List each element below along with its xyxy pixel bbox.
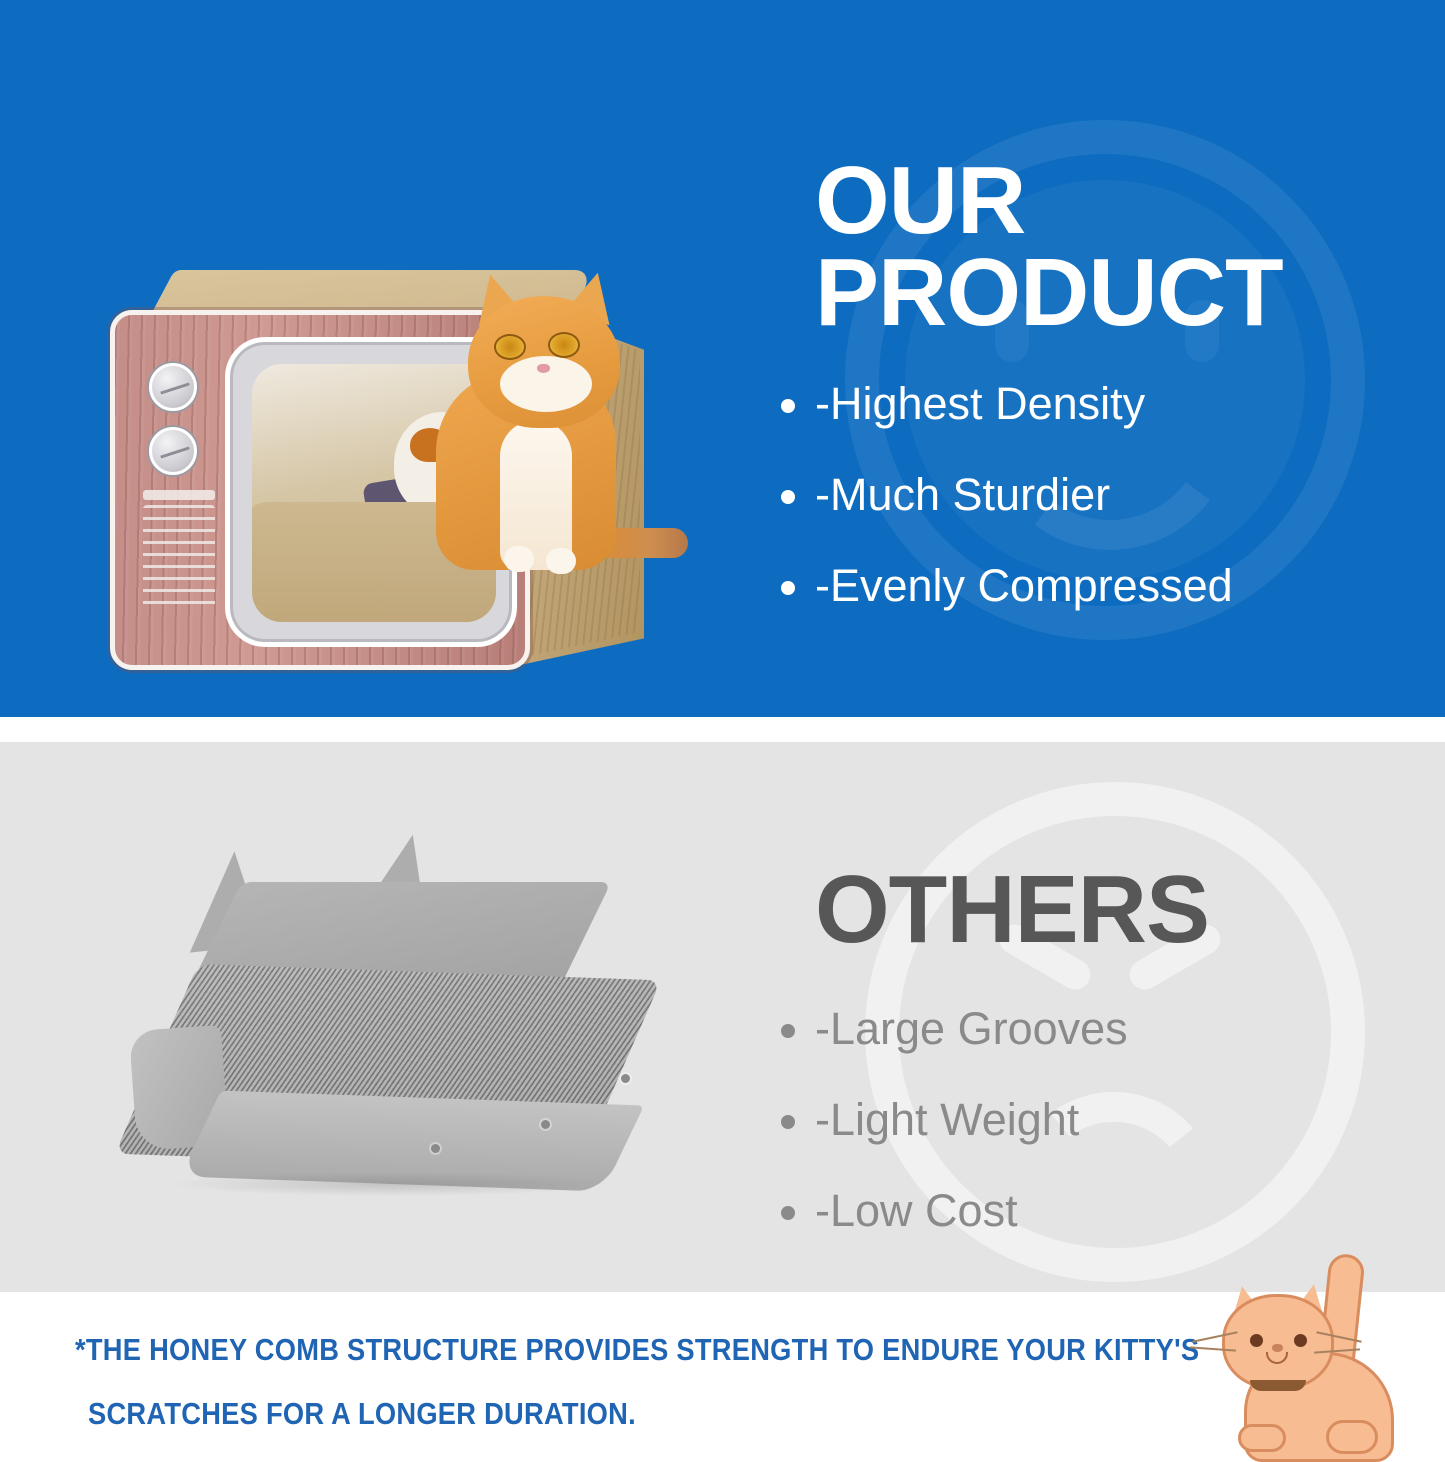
our-product-benefit-3: -Evenly Compressed — [815, 563, 1375, 608]
others-heading: OTHERS — [815, 864, 1375, 956]
cat-paw-left — [504, 546, 534, 572]
others-product-image — [135, 852, 705, 1232]
tv-speaker-grille-cap — [143, 490, 215, 500]
scratcher-screw-1 — [431, 1144, 440, 1153]
mascot-haunch — [1326, 1420, 1378, 1454]
others-trait-2: -Light Weight — [815, 1097, 1375, 1142]
mascot-eye-left — [1250, 1334, 1263, 1347]
footer-note-line-1: *THE HONEY COMB STRUCTURE PROVIDES STREN… — [75, 1332, 1199, 1368]
mascot-paw — [1238, 1424, 1286, 1452]
our-product-heading: OUR PRODUCT — [815, 155, 1375, 339]
mascot-head — [1222, 1294, 1334, 1390]
mascot-collar — [1250, 1380, 1306, 1391]
cat-paw-right — [546, 548, 576, 574]
mascot-nose — [1272, 1344, 1283, 1352]
our-product-copy: OUR PRODUCT -Highest Density -Much Sturd… — [815, 155, 1375, 654]
our-product-image — [96, 250, 676, 690]
our-product-heading-line-2: PRODUCT — [815, 239, 1283, 346]
scratcher-drop-shadow — [175, 1172, 605, 1196]
cat-eye-right — [548, 332, 580, 358]
our-product-benefit-list: -Highest Density -Much Sturdier -Evenly … — [815, 381, 1375, 608]
our-product-benefit-1: -Highest Density — [815, 381, 1375, 426]
others-trait-1: -Large Grooves — [815, 1006, 1375, 1051]
our-product-section: OUR PRODUCT -Highest Density -Much Sturd… — [0, 0, 1445, 717]
ginger-cat-photo — [396, 260, 676, 570]
others-section: OTHERS -Large Grooves -Light Weight -Low… — [0, 742, 1445, 1292]
mascot-eye-right — [1294, 1334, 1307, 1347]
our-product-benefit-2: -Much Sturdier — [815, 472, 1375, 517]
tv-dial-icon-upper — [149, 363, 197, 411]
tv-speaker-grille — [143, 505, 215, 613]
cat-mascot-icon — [1214, 1252, 1414, 1447]
tv-dial-icon-lower — [149, 427, 197, 475]
others-trait-list: -Large Grooves -Light Weight -Low Cost — [815, 1006, 1375, 1233]
our-product-heading-line-1: OUR — [815, 147, 1025, 254]
cat-eye-left — [494, 334, 526, 360]
others-trait-3: -Low Cost — [815, 1188, 1375, 1233]
cat-nose — [537, 364, 550, 373]
footer-note-line-2: SCRATCHES FOR A LONGER DURATION. — [88, 1396, 636, 1432]
scratcher-screw-2 — [541, 1120, 550, 1129]
scratcher-screw-3 — [621, 1074, 630, 1083]
others-copy: OTHERS -Large Grooves -Light Weight -Low… — [815, 864, 1375, 1279]
